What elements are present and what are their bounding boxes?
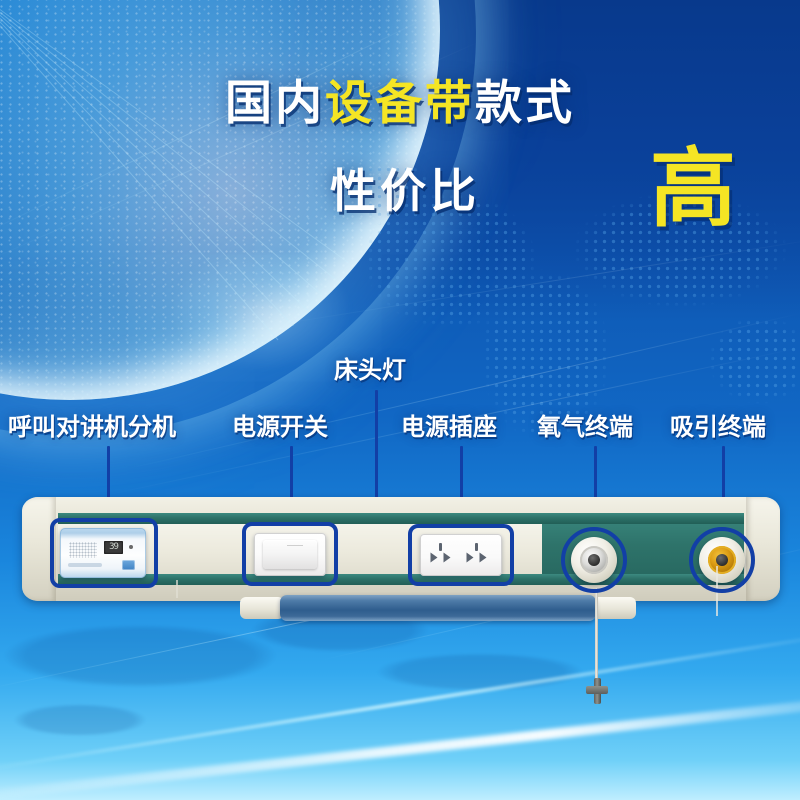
highlight-box-switch	[242, 522, 338, 586]
callout-label-bedlamp: 床头灯	[334, 358, 406, 382]
rail-cap-right	[592, 597, 636, 619]
primary-light-beam	[0, 689, 800, 800]
highlight-circle-oxygen	[561, 527, 627, 593]
panel-seam-line	[176, 580, 178, 598]
headline-line-2: 性价比	[330, 168, 480, 214]
callout-label-socket: 电源插座	[401, 415, 497, 439]
bed-lamp-pull-cord[interactable]	[595, 588, 598, 684]
highlight-circle-suction	[689, 527, 755, 593]
panel-stripe-bottom	[58, 574, 744, 585]
headline-emphasis: 高	[650, 146, 736, 232]
panel-lower-rail	[280, 595, 596, 621]
banner-stage: 国内设备带款式 性价比 高 呼叫对讲机分机 电源开关 床头灯 电源插座 氧气终端…	[0, 0, 800, 800]
rail-cap-left	[240, 597, 284, 619]
headline-part-2: 设备带	[325, 76, 475, 131]
highlight-box-intercom	[50, 518, 158, 588]
panel-stripe-top	[58, 513, 744, 524]
headline-part-3: 款式	[475, 76, 575, 131]
callout-label-intercom: 呼叫对讲机分机	[8, 415, 176, 439]
callout-label-suction: 吸引终端	[670, 415, 766, 439]
pull-cord-weight[interactable]	[586, 678, 608, 704]
highlight-box-socket	[408, 524, 514, 586]
headline-line-1: 国内设备带款式	[0, 80, 800, 127]
cord-weight-horizontal	[586, 686, 608, 694]
lens-flare	[170, 250, 350, 370]
headline-part-1: 国内	[225, 76, 325, 131]
fan-lines	[0, 0, 380, 300]
callout-label-oxygen: 氧气终端	[537, 415, 633, 439]
callout-label-switch: 电源开关	[232, 415, 328, 439]
